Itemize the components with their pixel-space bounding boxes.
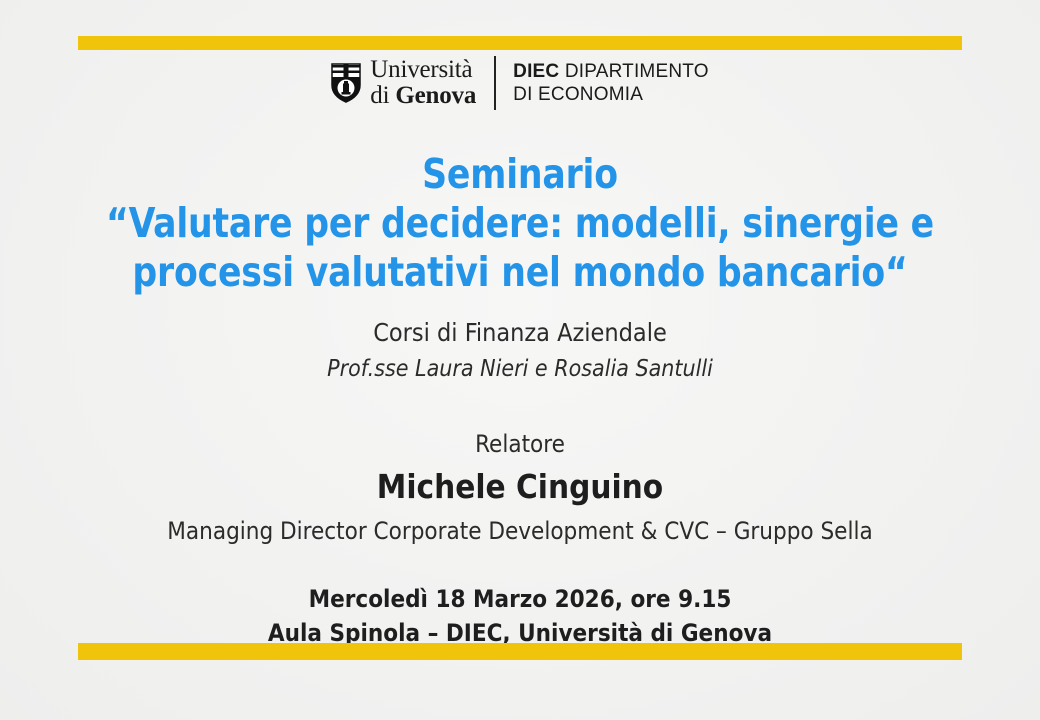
- speaker-name: Michele Cinguino: [50, 460, 990, 513]
- course-block: Corsi di Finanza Aziendale Prof.sse Laur…: [50, 314, 990, 387]
- university-line-1: Università: [370, 57, 476, 83]
- university-wordmark: Università di Genova: [370, 57, 476, 109]
- logo-band: Università di Genova DIEC DIPARTIMENTO D…: [0, 56, 1040, 110]
- top-accent-rule: [78, 36, 962, 50]
- department-wordmark: DIEC DIPARTIMENTO DI ECONOMIA: [513, 60, 709, 106]
- department-line-1: DIEC DIPARTIMENTO: [513, 60, 709, 83]
- event-datetime: Mercoledì 18 Marzo 2026, ore 9.15: [50, 582, 990, 616]
- university-line-2-bold: Genova: [395, 82, 476, 109]
- department-acronym: DIEC: [513, 61, 559, 82]
- speaker-role: Managing Director Corporate Development …: [50, 514, 990, 549]
- logo-divider: [494, 56, 496, 110]
- bottom-accent-rule: [78, 643, 962, 660]
- genoa-shield-lighthouse-icon: [331, 63, 361, 103]
- event-details: Mercoledì 18 Marzo 2026, ore 9.15 Aula S…: [50, 582, 990, 650]
- department-line-2: DI ECONOMIA: [513, 83, 709, 106]
- university-line-2-prefix: di: [370, 82, 395, 109]
- logo-inner: Università di Genova DIEC DIPARTIMENTO D…: [331, 56, 708, 110]
- title-line-1: Seminario: [78, 150, 962, 199]
- university-line-2: di Genova: [370, 83, 476, 109]
- speaker-label: Relatore: [50, 428, 990, 460]
- department-line-1-rest: DIPARTIMENTO: [559, 61, 708, 82]
- seminar-poster: Università di Genova DIEC DIPARTIMENTO D…: [0, 0, 1040, 720]
- title-line-3: processi valutativi nel mondo bancario“: [78, 248, 962, 297]
- speaker-block: Relatore Michele Cinguino Managing Direc…: [50, 428, 990, 549]
- title-line-2: “Valutare per decidere: modelli, sinergi…: [78, 199, 962, 248]
- course-name: Corsi di Finanza Aziendale: [50, 314, 990, 352]
- course-professors: Prof.sse Laura Nieri e Rosalia Santulli: [50, 352, 990, 388]
- page-title: Seminario “Valutare per decidere: modell…: [78, 150, 962, 298]
